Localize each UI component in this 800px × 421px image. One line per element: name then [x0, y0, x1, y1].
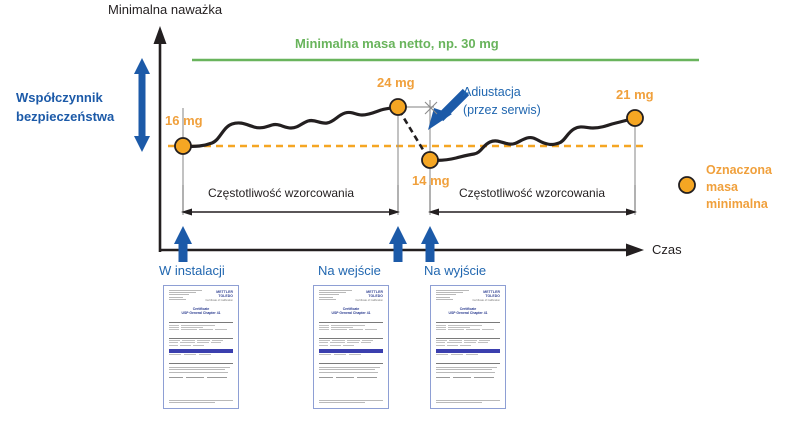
certificate-section-head-2 [319, 334, 383, 339]
certificate-address-block [319, 290, 352, 301]
certificate-section-head-1 [436, 319, 500, 324]
event-label-install: W instalacji [159, 264, 225, 279]
marker-dot-24mg [390, 99, 406, 115]
event-arrow-outbound [421, 226, 439, 262]
certificate-footer [436, 400, 500, 404]
marker-label-21mg: 21 mg [616, 88, 654, 103]
certificate-address-block [436, 290, 469, 301]
marker-label-16mg: 16 mg [165, 114, 203, 129]
safety-factor-label-line1: Współczynnik [16, 91, 103, 106]
event-arrow-install [174, 226, 192, 262]
safety-factor-label-line2: bezpieczeństwa [16, 110, 114, 125]
measurement-curve-segment-2 [430, 118, 635, 160]
certificate-highlight-bar [319, 349, 383, 353]
marker-dot-16mg [175, 138, 191, 154]
certificate-section-head-3 [436, 359, 500, 364]
certificate-rows-2 [436, 340, 500, 346]
mettler-toledo-logo: METTLER TOLEDO [469, 290, 500, 298]
certificate-subheading: Certificate of Calibration [469, 299, 500, 302]
certificate-title-2: USP General Chapter 41 [169, 311, 233, 315]
certificate-logo-block: METTLER TOLEDO Certificate of Calibratio… [202, 290, 233, 302]
calibration-interval-label-2: Częstotliwość wzorcowania [459, 187, 605, 201]
certificate-title-2: USP General Chapter 41 [436, 311, 500, 315]
certificate-header: METTLER TOLEDO Certificate of Calibratio… [169, 290, 233, 302]
certificate-result-cols [169, 354, 233, 355]
certificate-subheading: Certificate of Calibration [352, 299, 383, 302]
x-axis-title: Czas [652, 243, 682, 258]
certificate-footer [169, 400, 233, 404]
legend-label-line2: masa [706, 180, 738, 194]
net-mass-label: Minimalna masa netto, np. 30 mg [295, 37, 499, 52]
certificate-rows-2 [319, 340, 383, 346]
legend-label-line3: minimalna [706, 197, 768, 211]
certificate-thumbnail-inbound[interactable]: METTLER TOLEDO Certificate of Calibratio… [313, 285, 389, 409]
certificate-rows-1 [436, 325, 500, 331]
marker-label-14mg: 14 mg [412, 174, 450, 189]
certificate-section-head-1 [169, 319, 233, 324]
certificate-rows-1 [319, 325, 383, 331]
certificate-header: METTLER TOLEDO Certificate of Calibratio… [436, 290, 500, 302]
calibration-interval-label-1: Częstotliwość wzorcowania [208, 187, 354, 201]
certificate-paragraph [319, 367, 383, 373]
event-label-outbound: Na wyjście [424, 264, 486, 279]
y-axis-title: Minimalna naważka [108, 3, 222, 18]
certificate-section-head-2 [436, 334, 500, 339]
chart-svg [0, 0, 800, 421]
certificate-subheading: Certificate of Calibration [202, 299, 233, 302]
certificate-paragraph [436, 367, 500, 373]
certificate-logo-block: METTLER TOLEDO Certificate of Calibratio… [469, 290, 500, 302]
certificate-signature-row [436, 377, 500, 378]
certificate-result-cols [319, 354, 383, 355]
adjustment-label-line1: Adiustacja [463, 85, 521, 99]
certificate-section-head-3 [169, 359, 233, 364]
certificate-highlight-bar [169, 349, 233, 353]
certificate-rows-1 [169, 325, 233, 331]
certificate-section-head-3 [319, 359, 383, 364]
certificate-section-head-1 [319, 319, 383, 324]
diagram-canvas: Minimalna naważka Czas Minimalna masa ne… [0, 0, 800, 421]
safety-factor-arrow [134, 58, 150, 152]
measurement-curve-segment-1 [183, 107, 398, 146]
marker-dot-21mg [627, 110, 643, 126]
x-axis-arrowhead [626, 244, 644, 257]
certificate-logo-block: METTLER TOLEDO Certificate of Calibratio… [352, 290, 383, 302]
certificate-signature-row [169, 377, 233, 378]
adjustment-arrow [425, 92, 466, 130]
marker-label-24mg: 24 mg [377, 76, 415, 91]
legend-label-line1: Oznaczona [706, 163, 772, 177]
certificate-title-2: USP General Chapter 41 [319, 311, 383, 315]
certificate-result-cols [436, 354, 500, 355]
certificate-highlight-bar [436, 349, 500, 353]
certificate-address-block [169, 290, 202, 301]
legend-marker-dot [679, 177, 695, 193]
certificate-section-head-2 [169, 334, 233, 339]
event-label-inbound: Na wejście [318, 264, 381, 279]
adjustment-label-line2: (przez serwis) [463, 103, 541, 117]
certificate-footer [319, 400, 383, 404]
certificate-header: METTLER TOLEDO Certificate of Calibratio… [319, 290, 383, 302]
certificate-rows-2 [169, 340, 233, 346]
mettler-toledo-logo: METTLER TOLEDO [202, 290, 233, 298]
certificate-paragraph [169, 367, 233, 373]
mettler-toledo-logo: METTLER TOLEDO [352, 290, 383, 298]
marker-dot-14mg [422, 152, 438, 168]
event-arrow-inbound [389, 226, 407, 262]
certificate-signature-row [319, 377, 383, 378]
certificate-thumbnail-install[interactable]: METTLER TOLEDO Certificate of Calibratio… [163, 285, 239, 409]
adjustment-drop-dashed [399, 110, 428, 158]
certificate-thumbnail-outbound[interactable]: METTLER TOLEDO Certificate of Calibratio… [430, 285, 506, 409]
y-axis-arrowhead [154, 26, 167, 44]
